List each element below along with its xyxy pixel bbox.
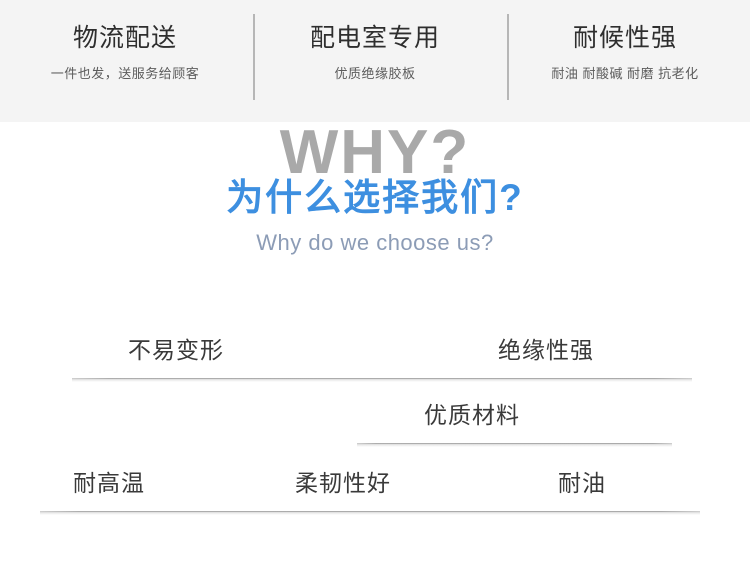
feature-item-heat-resistant: 耐高温: [73, 465, 145, 501]
feature-item-quality-material: 优质材料: [424, 397, 520, 433]
banner-subtitle-application: 优质绝缘胶板: [250, 67, 500, 80]
feature-item-oil-resistant: 耐油: [558, 465, 606, 501]
banner-title-application: 配电室专用: [250, 26, 500, 51]
top-feature-banner: 物流配送 一件也发，送服务给顾客 配电室专用 优质绝缘胶板 耐候性强 耐油 耐酸…: [0, 0, 750, 122]
banner-cell-application: 配电室专用 优质绝缘胶板: [250, 0, 500, 80]
feature-row-1: 不易变形 绝缘性强: [0, 332, 750, 392]
headline-why-large: WHY?: [0, 122, 750, 184]
banner-subtitle-logistics: 一件也发，送服务给顾客: [0, 67, 250, 80]
feature-row-3: 耐高温 柔韧性好 耐油: [0, 465, 750, 525]
feature-rows: 不易变形 绝缘性强 优质材料 耐高温 柔韧性好 耐油: [0, 322, 750, 532]
feature-divider-1: [72, 378, 692, 382]
banner-divider-2: [507, 14, 509, 100]
feature-item-insulation: 绝缘性强: [498, 332, 594, 368]
banner-cell-logistics: 物流配送 一件也发，送服务给顾客: [0, 0, 250, 80]
headline-english: Why do we choose us?: [0, 232, 750, 254]
banner-title-weather-resistance: 耐候性强: [500, 26, 750, 51]
feature-divider-2: [357, 443, 672, 447]
feature-divider-3: [40, 511, 700, 515]
feature-row-2: 优质材料: [0, 397, 750, 457]
feature-item-flexible: 柔韧性好: [295, 465, 391, 501]
banner-divider-1: [253, 14, 255, 100]
headline-chinese: 为什么选择我们?: [0, 179, 750, 216]
feature-item-no-deform: 不易变形: [128, 332, 224, 368]
banner-title-logistics: 物流配送: [0, 26, 250, 51]
banner-subtitle-weather-resistance: 耐油 耐酸碱 耐磨 抗老化: [500, 67, 750, 80]
banner-cell-weather-resistance: 耐候性强 耐油 耐酸碱 耐磨 抗老化: [500, 0, 750, 80]
headline-block: WHY? 为什么选择我们? Why do we choose us?: [0, 122, 750, 322]
